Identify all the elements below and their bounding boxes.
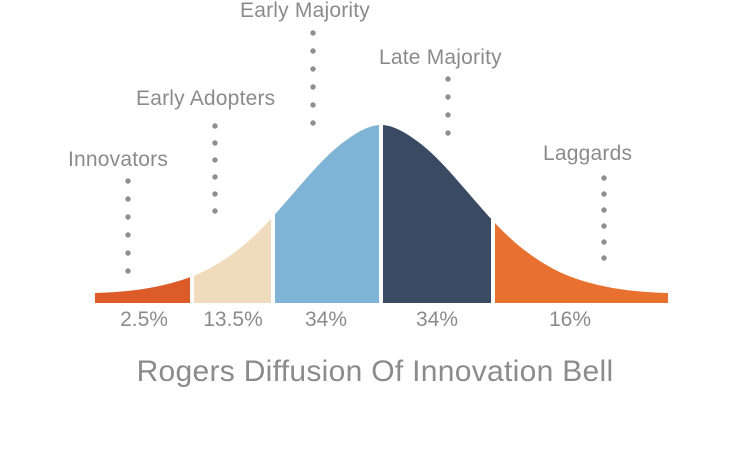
leader-dots-laggards	[601, 175, 606, 260]
percentage-label-early-adopters: 13.5%	[192, 309, 274, 330]
curve-segment-early-majority	[275, 118, 379, 308]
leader-dots-innovators	[125, 178, 130, 273]
callout-label-laggards: Laggards	[543, 143, 632, 164]
percentage-label-laggards: 16%	[529, 309, 611, 330]
curve-segment-late-majority	[383, 118, 491, 308]
leader-dots-early-majority	[310, 30, 315, 125]
chart-title: Rogers Diffusion Of Innovation Bell	[0, 354, 750, 390]
diffusion-of-innovation-diagram: Innovators Early Adopters Early Majority…	[0, 0, 750, 458]
callout-label-innovators: Innovators	[68, 149, 168, 170]
leader-dots-late-majority	[445, 76, 450, 135]
curve-segment-innovators	[95, 118, 190, 308]
percentage-label-late-majority: 34%	[396, 309, 478, 330]
percentage-label-innovators: 2.5%	[104, 309, 184, 330]
percentage-label-early-majority: 34%	[285, 309, 367, 330]
callout-label-late-majority: Late Majority	[379, 47, 502, 68]
curve-segment-early-adopters	[194, 118, 271, 308]
callout-label-early-majority: Early Majority	[240, 0, 370, 21]
leader-dots-early-adopters	[212, 123, 217, 213]
callout-label-early-adopters: Early Adopters	[136, 88, 275, 109]
